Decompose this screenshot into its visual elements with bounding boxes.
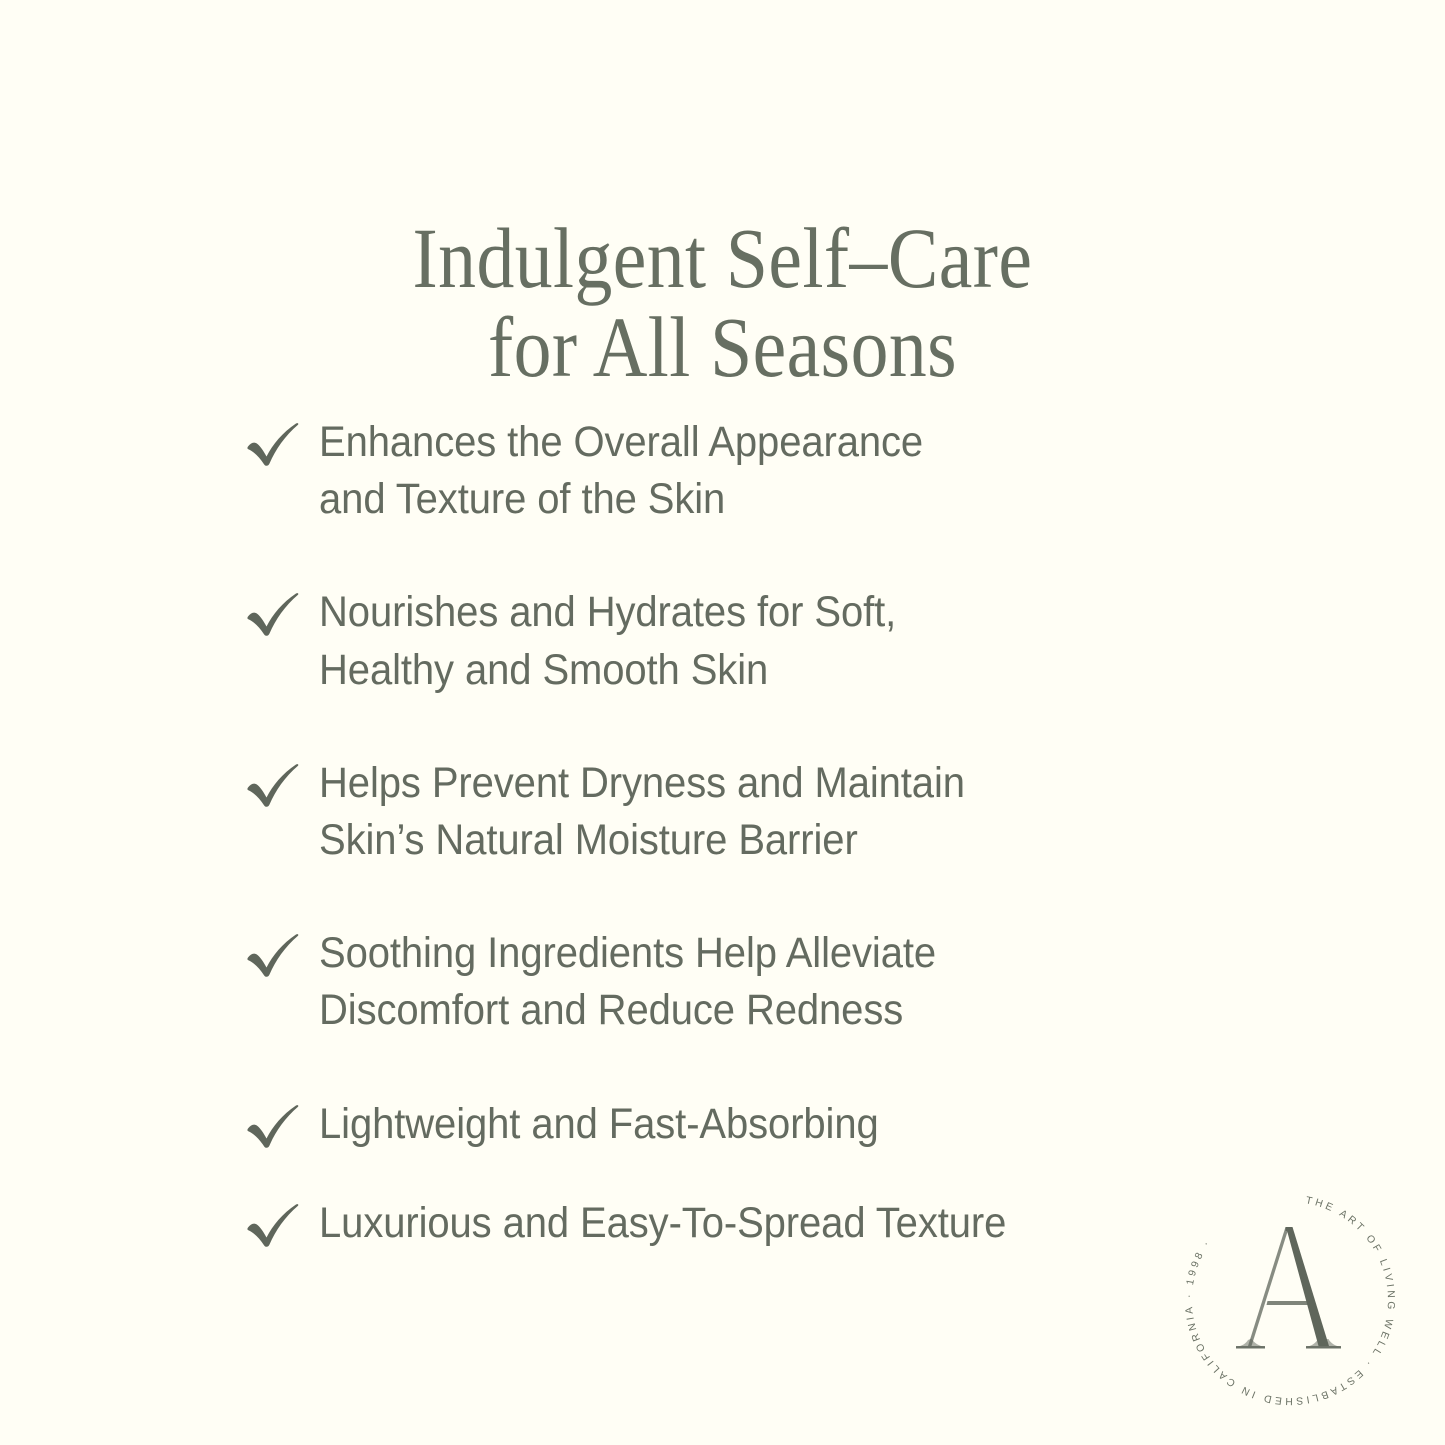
check-icon (244, 761, 306, 811)
list-item: Lightweight and Fast-Absorbing (244, 1096, 1184, 1153)
list-item-label: Lightweight and Fast-Absorbing (306, 1096, 879, 1153)
list-item: Nourishes and Hydrates for Soft, Healthy… (244, 584, 1184, 698)
list-item: Luxurious and Easy-To-Spread Texture (244, 1195, 1184, 1252)
check-icon (244, 1102, 306, 1152)
list-item: Helps Prevent Dryness and Maintain Skin’… (244, 755, 1184, 869)
check-icon (244, 590, 306, 640)
benefits-list: Enhances the Overall Appearance and Text… (244, 414, 1184, 1252)
promo-card: Indulgent Self–Care for All Seasons Enha… (0, 0, 1445, 1445)
brand-seal-logo: THE ART OF LIVING WELL · ESTABLISHED IN … (1175, 1185, 1405, 1415)
check-icon (244, 931, 306, 981)
page-title-line-1: Indulgent Self–Care (87, 216, 1359, 301)
list-item: Soothing Ingredients Help Alleviate Disc… (244, 925, 1184, 1039)
check-icon (244, 420, 306, 470)
list-item-label: Helps Prevent Dryness and Maintain Skin’… (306, 755, 965, 869)
list-item-label: Enhances the Overall Appearance and Text… (306, 414, 923, 528)
seal-ring-text: THE ART OF LIVING WELL · ESTABLISHED IN … (1184, 1195, 1396, 1406)
list-item-label: Soothing Ingredients Help Alleviate Disc… (306, 925, 936, 1039)
page-title: Indulgent Self–Care for All Seasons (87, 216, 1359, 390)
monogram-a-icon (1236, 1227, 1341, 1349)
page-title-line-2: for All Seasons (87, 305, 1359, 390)
list-item-label: Nourishes and Hydrates for Soft, Healthy… (306, 584, 896, 698)
list-item-label: Luxurious and Easy-To-Spread Texture (306, 1195, 1006, 1252)
list-item: Enhances the Overall Appearance and Text… (244, 414, 1184, 528)
check-icon (244, 1201, 306, 1251)
